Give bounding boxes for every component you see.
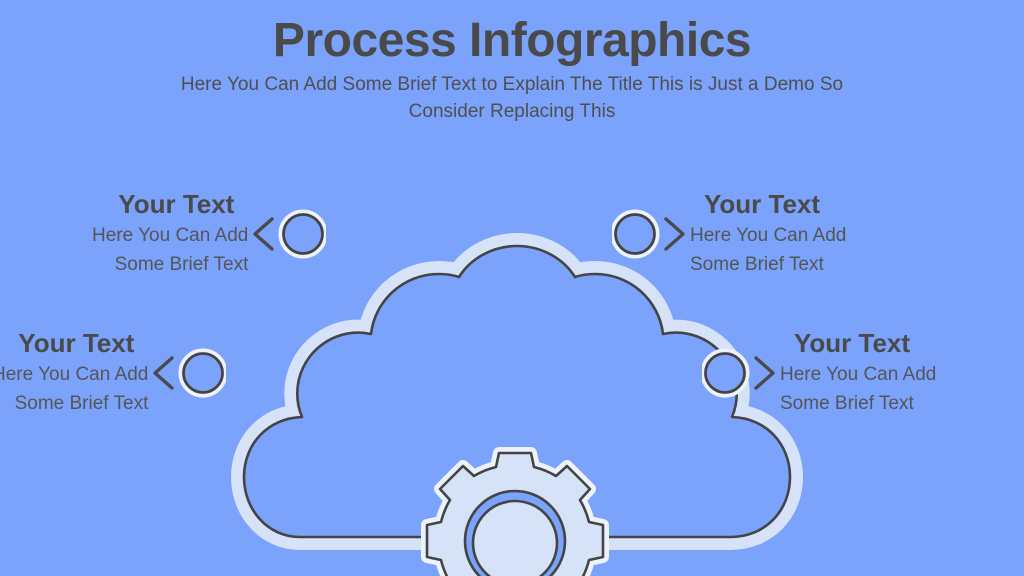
circle-marker-icon (616, 214, 655, 253)
chevron-right-icon (756, 358, 773, 388)
circle-marker-icon (184, 353, 223, 392)
node-bottom-left-text: Your Text Here You Can Add Some Brief Te… (0, 329, 148, 416)
page-title: Process Infographics (0, 16, 1024, 66)
connector-top-left[interactable] (248, 208, 326, 260)
node-bottom-left-heading: Your Text (18, 329, 134, 359)
node-top-right-body-line1: Here You Can Add (690, 223, 846, 249)
connector-bottom-right[interactable] (702, 347, 780, 399)
chevron-left-icon (155, 358, 172, 388)
node-bottom-right-body-line2: Some Brief Text (780, 391, 914, 417)
node-top-right-text: Your Text Here You Can Add Some Brief Te… (690, 190, 846, 277)
node-bottom-right-heading: Your Text (794, 329, 910, 359)
gear-icon (427, 453, 603, 576)
node-bottom-left-body-line2: Some Brief Text (15, 391, 149, 417)
gear-hub-center (473, 501, 557, 576)
node-top-right-heading: Your Text (704, 190, 820, 220)
node-top-right[interactable]: Your Text Here You Can Add Some Brief Te… (612, 190, 846, 277)
node-bottom-right-text: Your Text Here You Can Add Some Brief Te… (780, 329, 936, 416)
node-bottom-left[interactable]: Your Text Here You Can Add Some Brief Te… (0, 329, 226, 416)
node-top-left-body-line1: Here You Can Add (92, 223, 248, 249)
infographic-slide: Process Infographics Here You Can Add So… (0, 0, 1024, 576)
node-top-left-heading: Your Text (118, 190, 234, 220)
header: Process Infographics Here You Can Add So… (0, 16, 1024, 126)
node-bottom-right-body-line1: Here You Can Add (780, 362, 936, 388)
chevron-left-icon (255, 219, 272, 249)
node-bottom-left-body-line1: Here You Can Add (0, 362, 148, 388)
connector-bottom-left[interactable] (148, 347, 226, 399)
gear-hub-ring (465, 491, 565, 576)
circle-marker-icon (284, 214, 323, 253)
connector-top-right[interactable] (612, 208, 690, 260)
page-subtitle: Here You Can Add Some Brief Text to Expl… (167, 72, 857, 126)
gear-body (427, 453, 603, 576)
node-top-left-body-line2: Some Brief Text (115, 252, 249, 278)
node-bottom-right[interactable]: Your Text Here You Can Add Some Brief Te… (702, 329, 936, 416)
chevron-right-icon (666, 219, 683, 249)
node-top-left-text: Your Text Here You Can Add Some Brief Te… (92, 190, 248, 277)
circle-marker-icon (706, 353, 745, 392)
node-top-right-body-line2: Some Brief Text (690, 252, 824, 278)
node-top-left[interactable]: Your Text Here You Can Add Some Brief Te… (92, 190, 326, 277)
